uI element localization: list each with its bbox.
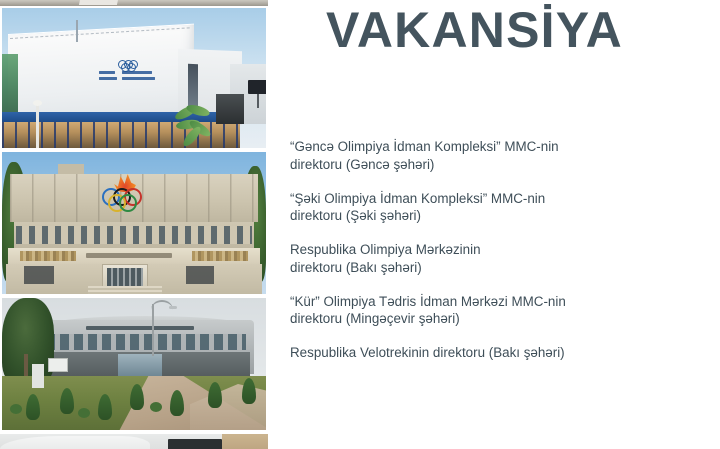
vacancy-item-ganja: “Gəncə Olimpiya İdman Kompleksi” MMC-nin… [290,138,700,173]
photo-top-strip [0,0,268,6]
pine-tree [2,298,54,384]
photo-kur-training-centre [2,298,266,430]
photo-republic-olympic-centre [2,152,266,294]
building-signage [86,326,194,330]
building-signage [86,253,172,258]
mosaic-panel-left [20,251,76,261]
street-lamp [152,304,154,356]
photo-ganja-olympic-complex [2,8,266,148]
white-structure [0,436,150,449]
sign-board [248,80,266,94]
recess-left [24,266,54,284]
palm-tree [172,104,218,148]
page-title: VAKANSİYA [326,4,623,57]
vacancy-item-kur: “Kür” Olimpiya Tədris İdman Mərkəzi MMC-… [290,293,700,328]
entrance [216,94,244,124]
bush [150,402,162,412]
utility-box [32,364,44,388]
bush [78,408,90,418]
antenna [76,20,78,42]
tan-wall [222,434,268,449]
window-row [14,222,254,248]
photo-column [0,0,268,449]
mosaic-panel-right [192,251,248,261]
building-signage [99,71,161,86]
vacancy-item-sheki: “Şəki Olimpiya İdman Kompleksi” MMC-nin … [290,190,700,225]
info-board [48,358,68,372]
recess-right [186,266,214,284]
vacancy-item-velodrome: Respublika Velotrekinin direktoru (Bakı … [290,344,700,362]
olympic-rings-icon [102,188,148,204]
green-glass-wall [2,54,18,112]
vacancy-list: “Gəncə Olimpiya İdman Kompleksi” MMC-nin… [290,138,700,362]
content-panel: VAKANSİYA “Gəncə Olimpiya İdman Kompleks… [268,0,720,449]
entrance [118,354,162,376]
olympic-rings-icon [118,60,144,68]
light-pole [36,104,39,148]
bush [10,404,22,414]
vacancy-item-republic-olympic-centre: Respublika Olimpiya Mərkəzinin direktoru… [290,241,700,276]
entrance-stairs [88,286,162,294]
photo-bottom-strip [0,434,268,449]
window-band [46,334,246,350]
dark-vehicle [168,439,222,449]
window-column [188,64,198,107]
road-strip [0,0,268,6]
